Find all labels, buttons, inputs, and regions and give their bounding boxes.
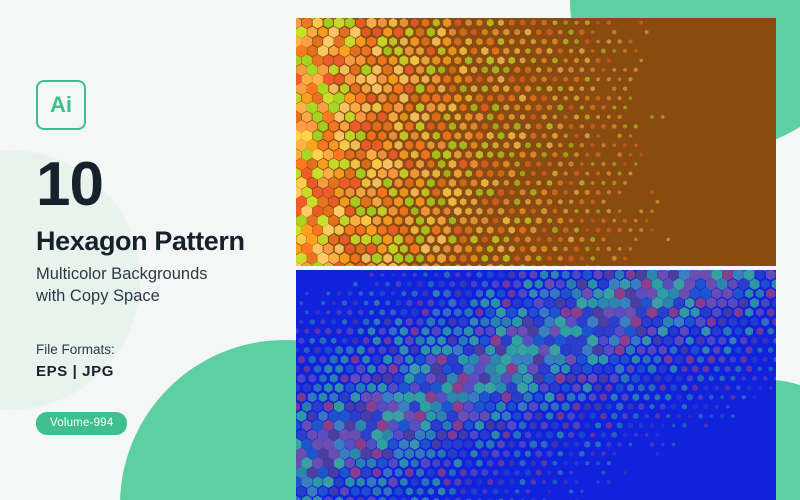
page-subtitle-line1: Multicolor Backgrounds bbox=[36, 264, 296, 286]
blue-hexagon-pattern bbox=[296, 270, 776, 500]
adobe-illustrator-icon: Ai bbox=[36, 80, 86, 130]
file-formats-value: EPS | JPG bbox=[36, 363, 296, 380]
orange-hexagon-halftone-preview bbox=[296, 18, 776, 266]
blue-hexagon-halftone-preview bbox=[296, 270, 776, 500]
item-count: 10 bbox=[36, 156, 296, 215]
orange-hexagon-pattern bbox=[296, 18, 776, 266]
poster-canvas: Ai 10 Hexagon Pattern Multicolor Backgro… bbox=[0, 0, 800, 500]
page-subtitle-line2: with Copy Space bbox=[36, 286, 296, 308]
page-subtitle: Multicolor Backgrounds with Copy Space bbox=[36, 264, 296, 308]
ai-badge-label: Ai bbox=[50, 92, 72, 118]
page-title: Hexagon Pattern bbox=[36, 227, 296, 256]
file-formats-label: File Formats: bbox=[36, 342, 296, 357]
volume-badge: Volume-994 bbox=[36, 412, 127, 435]
info-panel: Ai 10 Hexagon Pattern Multicolor Backgro… bbox=[36, 80, 296, 435]
